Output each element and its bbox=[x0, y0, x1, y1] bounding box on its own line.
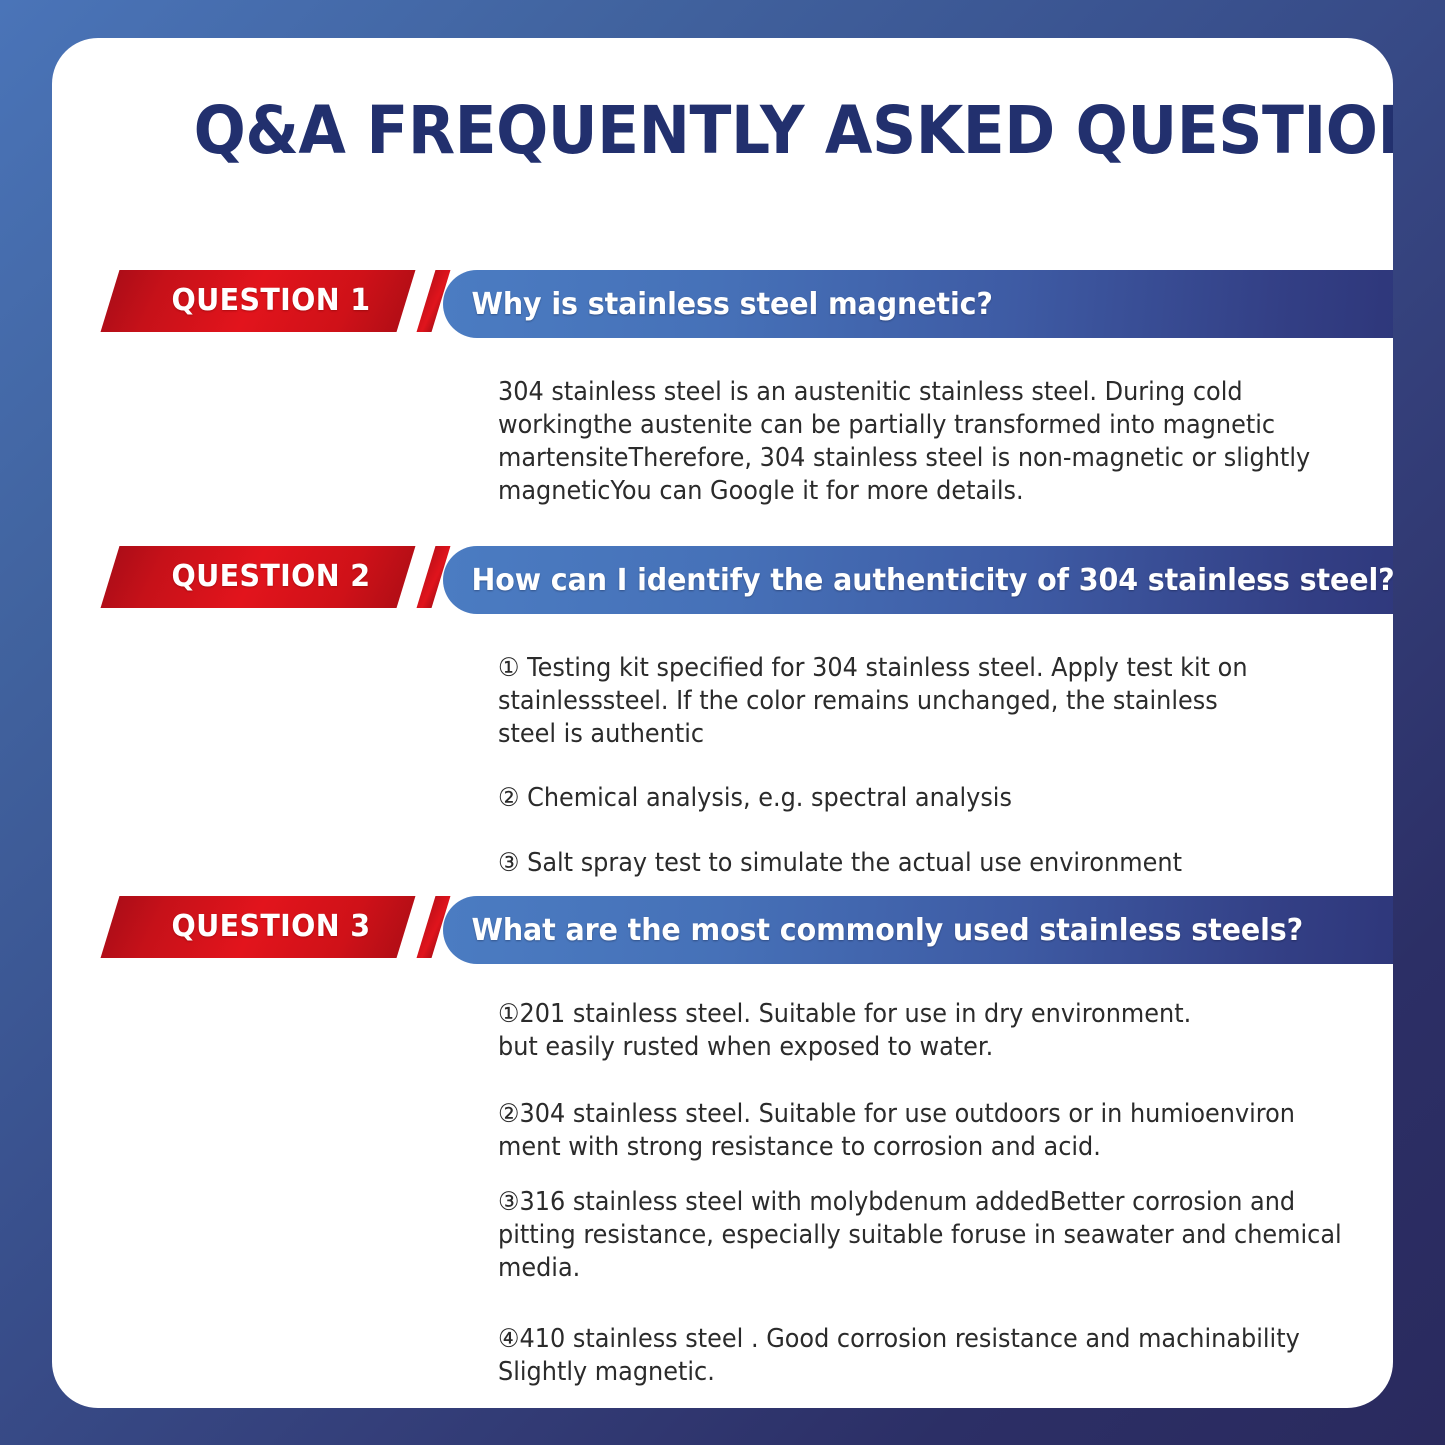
answer-2-paragraph-2: ② Chemical analysis, e.g. spectral analy… bbox=[498, 782, 1325, 815]
question-text-1: Why is stainless steel magnetic? bbox=[443, 287, 1018, 322]
answer-3-paragraph-2: ②304 stainless steel. Suitable for use o… bbox=[498, 1098, 1391, 1164]
answer-2-paragraph-3: ③ Salt spray test to simulate the actual… bbox=[498, 847, 1344, 880]
question-pill-1[interactable]: Why is stainless steel magnetic? bbox=[443, 270, 1393, 338]
answer-3-paragraph-3: ③316 stainless steel with molybdenum add… bbox=[498, 1186, 1393, 1285]
answer-2-paragraph-1: ① Testing kit specified for 304 stainles… bbox=[498, 652, 1325, 751]
answer-1-paragraph-1: 304 stainless steel is an austenitic sta… bbox=[498, 376, 1382, 509]
question-label-3: QUESTION 3 bbox=[152, 896, 390, 958]
question-label-2: QUESTION 2 bbox=[152, 546, 390, 608]
answer-3-paragraph-4: ④410 stainless steel . Good corrosion re… bbox=[498, 1323, 1391, 1389]
question-pill-3[interactable]: What are the most commonly used stainles… bbox=[443, 896, 1393, 964]
faq-card: Q&A FREQUENTLY ASKED QUESTIONS QUESTION … bbox=[52, 38, 1393, 1408]
question-text-3: What are the most commonly used stainles… bbox=[443, 913, 1328, 948]
question-label-1: QUESTION 1 bbox=[152, 270, 390, 332]
question-pill-2[interactable]: How can I identify the authenticity of 3… bbox=[443, 546, 1393, 614]
question-text-2: How can I identify the authenticity of 3… bbox=[443, 563, 1393, 598]
answer-3-paragraph-1: ①201 stainless steel. Suitable for use i… bbox=[498, 998, 1344, 1064]
page-title: Q&A FREQUENTLY ASKED QUESTIONS bbox=[194, 98, 1301, 164]
